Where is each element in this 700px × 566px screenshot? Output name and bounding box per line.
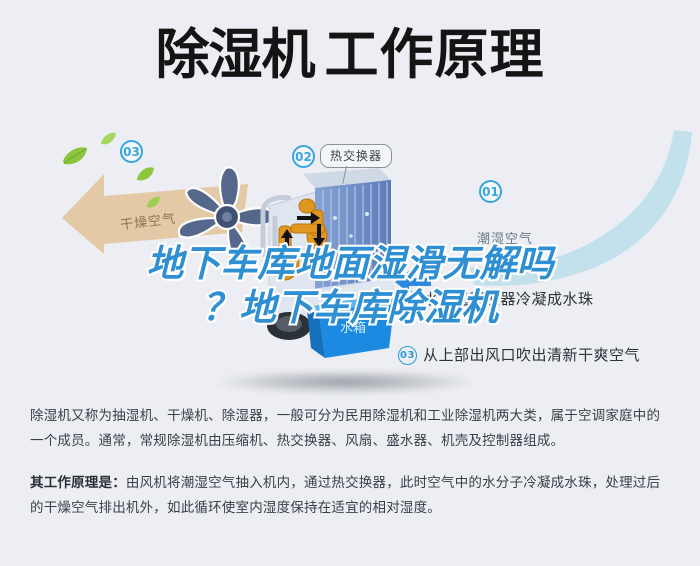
heat-exchanger-callout: 热交换器 <box>320 144 392 168</box>
caption-02-badge: 02 <box>398 290 417 309</box>
page-title-part2: 工作原理 <box>325 23 545 86</box>
dehumidifier-unit-icon: 水箱 <box>255 166 455 366</box>
page-title: 除湿机工作原理 <box>0 22 700 88</box>
page-title-part1: 除湿机 <box>156 23 315 86</box>
dehumidifier-diagram: 干燥空气 03 <box>0 118 700 398</box>
body-copy: 除湿机又称为抽湿机、干燥机、除湿器，一般可分为民用除湿机和工业除湿机两大类，属于… <box>0 404 700 521</box>
leaf-icon <box>100 132 117 146</box>
infographic-page: 除湿机工作原理 干燥空气 03 <box>0 0 700 566</box>
title-bar: 除湿机工作原理 <box>0 0 700 118</box>
leaf-icon <box>136 166 155 182</box>
humid-air-swoosh-icon <box>430 128 700 288</box>
body-paragraph-1: 除湿机又称为抽湿机、干燥机、除湿器，一般可分为民用除湿机和工业除湿机两大类，属于… <box>0 404 700 454</box>
body-paragraph-2: 其工作原理是：由风机将潮湿空气抽入机内，通过热交换器，此时空气中的水分子冷凝成水… <box>0 471 700 521</box>
badge-02-heat-exchanger: 02 <box>292 145 315 168</box>
caption-03: 03从上部出风口吹出清新干爽空气 <box>398 344 640 365</box>
caption-02-text: 水分遇蒸发器冷凝成水珠 <box>423 290 594 308</box>
leaf-icon <box>146 196 161 209</box>
caption-03-badge: 03 <box>398 346 417 365</box>
unit-shadow <box>215 370 475 394</box>
badge-01-humid-air: 01 <box>479 180 502 203</box>
badge-03-dry-air: 03 <box>120 140 143 163</box>
water-tank-label: 水箱 <box>340 320 366 336</box>
leaf-icon <box>62 146 88 166</box>
caption-03-text: 从上部出风口吹出清新干爽空气 <box>423 346 640 364</box>
body-paragraph-2-label: 其工作原理是： <box>30 475 126 491</box>
humid-air-label: 潮湿空气 <box>477 228 533 247</box>
caption-02: 02水分遇蒸发器冷凝成水珠 <box>398 288 594 309</box>
